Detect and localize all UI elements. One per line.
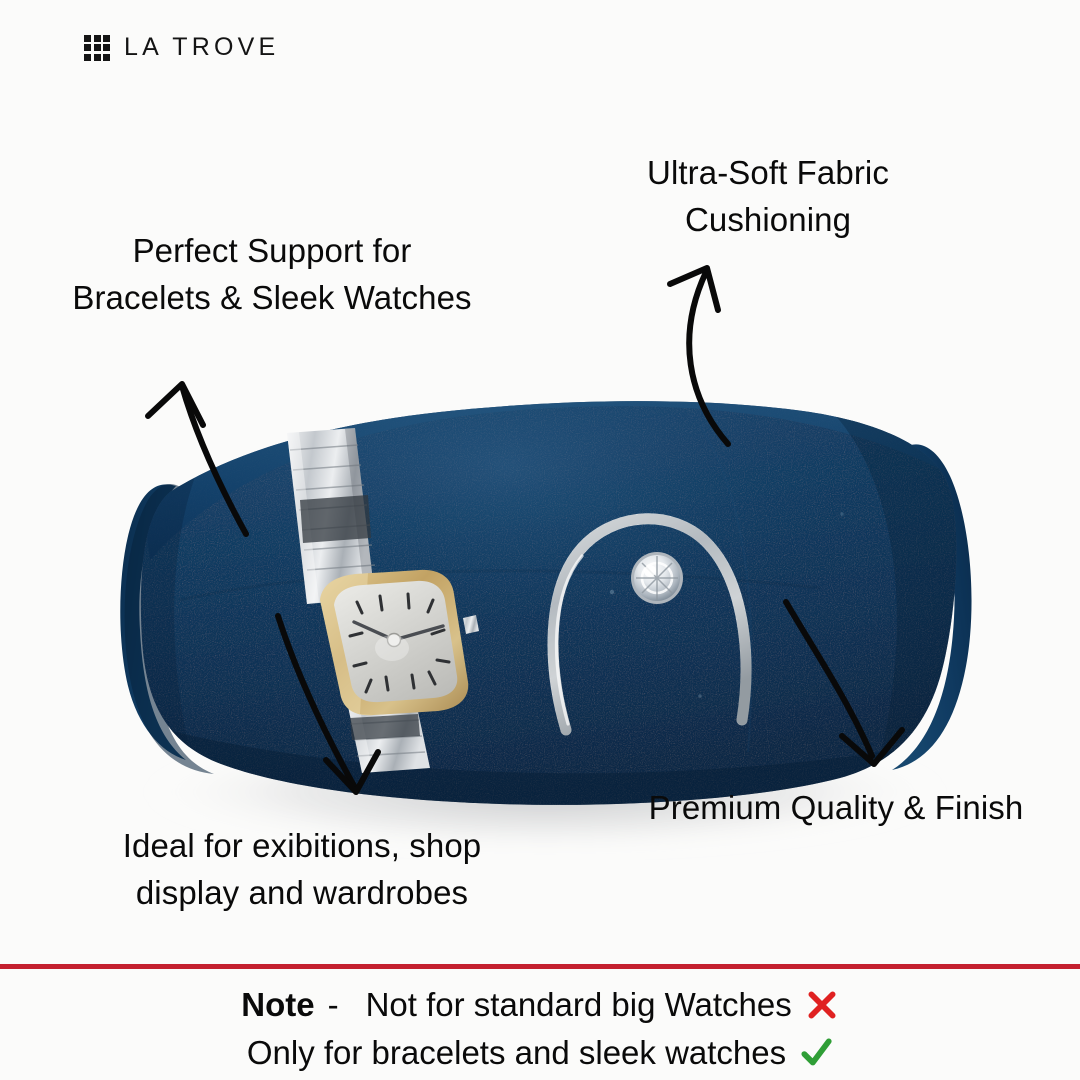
note-row-positive: Only for bracelets and sleek watches	[0, 1026, 1080, 1074]
bracelet-gemstone	[631, 552, 683, 604]
note-band: Note - Not for standard big Watches Only…	[0, 980, 1080, 1074]
note-line1: Not for standard big Watches	[366, 984, 792, 1026]
callout-fabric-label: Ultra-Soft Fabric Cushioning	[596, 150, 940, 244]
red-cross-icon	[805, 988, 839, 1022]
brand-name: LA TROVE	[124, 33, 279, 62]
brand-logo: LA TROVE	[84, 33, 279, 62]
product-photo	[0, 300, 1080, 860]
note-divider-rule	[0, 964, 1080, 969]
grid-3x3-icon	[84, 35, 110, 61]
note-dash: -	[328, 984, 353, 1026]
green-check-icon	[799, 1036, 833, 1070]
velvet-pillow	[120, 390, 980, 820]
infographic-canvas: LA TROVE	[0, 0, 1080, 1080]
note-row-negative: Note - Not for standard big Watches	[0, 980, 1080, 1026]
callout-premium-label: Premium Quality & Finish	[610, 785, 1062, 832]
product-illustration	[0, 300, 1080, 860]
note-label: Note	[241, 984, 314, 1026]
callout-support-label: Perfect Support for Bracelets & Sleek Wa…	[22, 228, 522, 322]
note-line2: Only for bracelets and sleek watches	[247, 1032, 786, 1074]
callout-ideal-label: Ideal for exibitions, shop display and w…	[52, 823, 552, 917]
